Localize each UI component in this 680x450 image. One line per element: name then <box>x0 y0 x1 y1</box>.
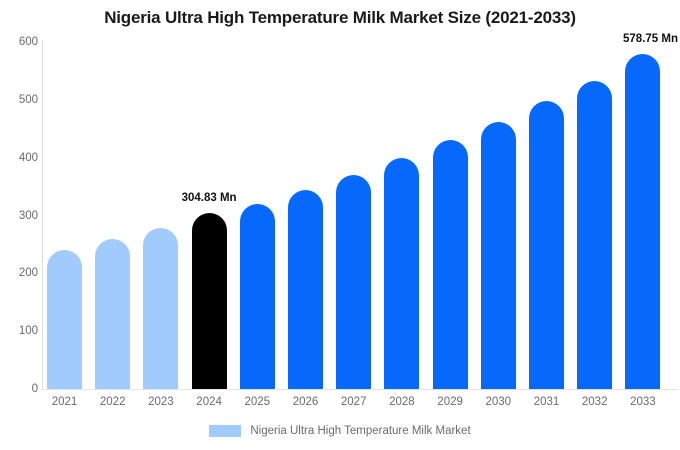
bar-2027[interactable] <box>336 175 371 389</box>
y-axis-tick-label: 200 <box>4 267 38 279</box>
bar-2032[interactable] <box>577 81 612 389</box>
bar-2023[interactable] <box>143 228 178 389</box>
bar-column[interactable] <box>433 42 468 389</box>
y-axis: 0100200300400500600 <box>0 0 38 450</box>
bar-column[interactable] <box>143 42 178 389</box>
plot-area <box>42 42 680 389</box>
chart-title: Nigeria Ultra High Temperature Milk Mark… <box>0 8 680 28</box>
bar-value-label-2033: 578.75 Mn <box>623 33 678 45</box>
y-axis-tick-label: 100 <box>4 325 38 337</box>
bar-column[interactable] <box>384 42 419 389</box>
legend-label: Nigeria Ultra High Temperature Milk Mark… <box>250 425 470 437</box>
y-axis-tick-label: 500 <box>4 94 38 106</box>
bar-2028[interactable] <box>384 158 419 389</box>
legend-swatch-icon <box>209 425 241 437</box>
bar-2031[interactable] <box>529 101 564 389</box>
y-axis-tick-label: 400 <box>4 152 38 164</box>
bar-2030[interactable] <box>481 122 516 389</box>
bar-column[interactable] <box>192 42 227 389</box>
bar-column[interactable] <box>47 42 82 389</box>
bar-column[interactable] <box>481 42 516 389</box>
y-axis-tick-label: 0 <box>4 383 38 395</box>
x-axis-tick-label: 2033 <box>613 396 673 408</box>
bar-2024[interactable] <box>192 213 227 389</box>
bar-2026[interactable] <box>288 190 323 389</box>
bar-column[interactable] <box>625 42 660 389</box>
bar-value-label-2024: 304.83 Mn <box>182 192 237 204</box>
y-axis-tick-label: 300 <box>4 210 38 222</box>
x-axis-line <box>42 389 678 390</box>
bar-2025[interactable] <box>240 204 275 389</box>
y-axis-tick-label: 600 <box>4 36 38 48</box>
bar-column[interactable] <box>529 42 564 389</box>
bar-2022[interactable] <box>95 239 130 389</box>
bar-column[interactable] <box>577 42 612 389</box>
bar-2021[interactable] <box>47 250 82 389</box>
chart-container: Nigeria Ultra High Temperature Milk Mark… <box>0 0 680 450</box>
bar-2029[interactable] <box>433 140 468 389</box>
bar-column[interactable] <box>336 42 371 389</box>
bar-column[interactable] <box>95 42 130 389</box>
bar-column[interactable] <box>288 42 323 389</box>
bar-2033[interactable] <box>625 54 660 389</box>
bar-column[interactable] <box>240 42 275 389</box>
chart-legend: Nigeria Ultra High Temperature Milk Mark… <box>0 425 680 437</box>
